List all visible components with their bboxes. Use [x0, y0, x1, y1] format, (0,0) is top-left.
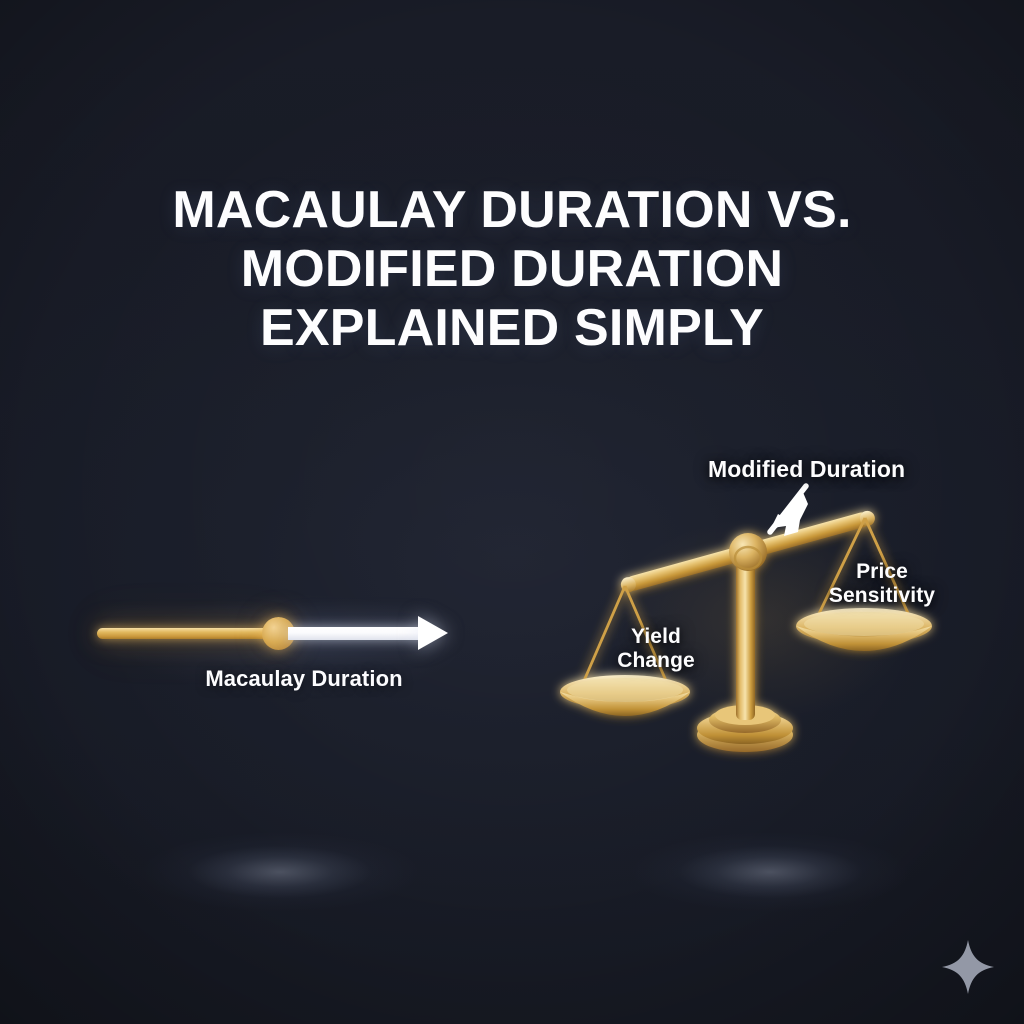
- gold-timeline-bar-icon: [97, 628, 277, 639]
- modified-duration-diagram: Modified Duration Yield Change Price Sen…: [540, 440, 980, 780]
- modified-duration-label: Modified Duration: [708, 456, 905, 483]
- white-right-arrow-shaft-icon: [288, 627, 423, 640]
- timeline-glow: [70, 576, 520, 716]
- price-sensitivity-line-1: Price: [856, 560, 908, 583]
- floor-glow-left: [140, 832, 420, 912]
- floor-glow-right: [630, 832, 910, 912]
- yield-change-line-1: Yield: [631, 625, 681, 648]
- macaulay-duration-diagram: Macaulay Duration: [60, 556, 530, 736]
- white-right-arrow-head-icon: [418, 616, 448, 650]
- annotation-arrow-icon: [768, 486, 808, 536]
- infographic-canvas: MACAULAY DURATION VS. MODIFIED DURATION …: [0, 0, 1024, 1024]
- page-title: MACAULAY DURATION VS. MODIFIED DURATION …: [0, 181, 1024, 358]
- macaulay-duration-label: Macaulay Duration: [60, 666, 530, 692]
- title-line-1: MACAULAY DURATION VS.: [60, 181, 964, 240]
- balance-scale-icon: [540, 440, 980, 780]
- title-line-3: EXPLAINED SIMPLY: [60, 299, 964, 358]
- title-line-2: MODIFIED DURATION: [60, 240, 964, 299]
- price-sensitivity-line-2: Sensitivity: [829, 584, 935, 607]
- price-sensitivity-label: Price Sensitivity: [812, 560, 952, 608]
- four-point-sparkle-icon: [940, 938, 996, 996]
- yield-change-line-2: Change: [617, 649, 695, 672]
- yield-change-label: Yield Change: [592, 625, 720, 673]
